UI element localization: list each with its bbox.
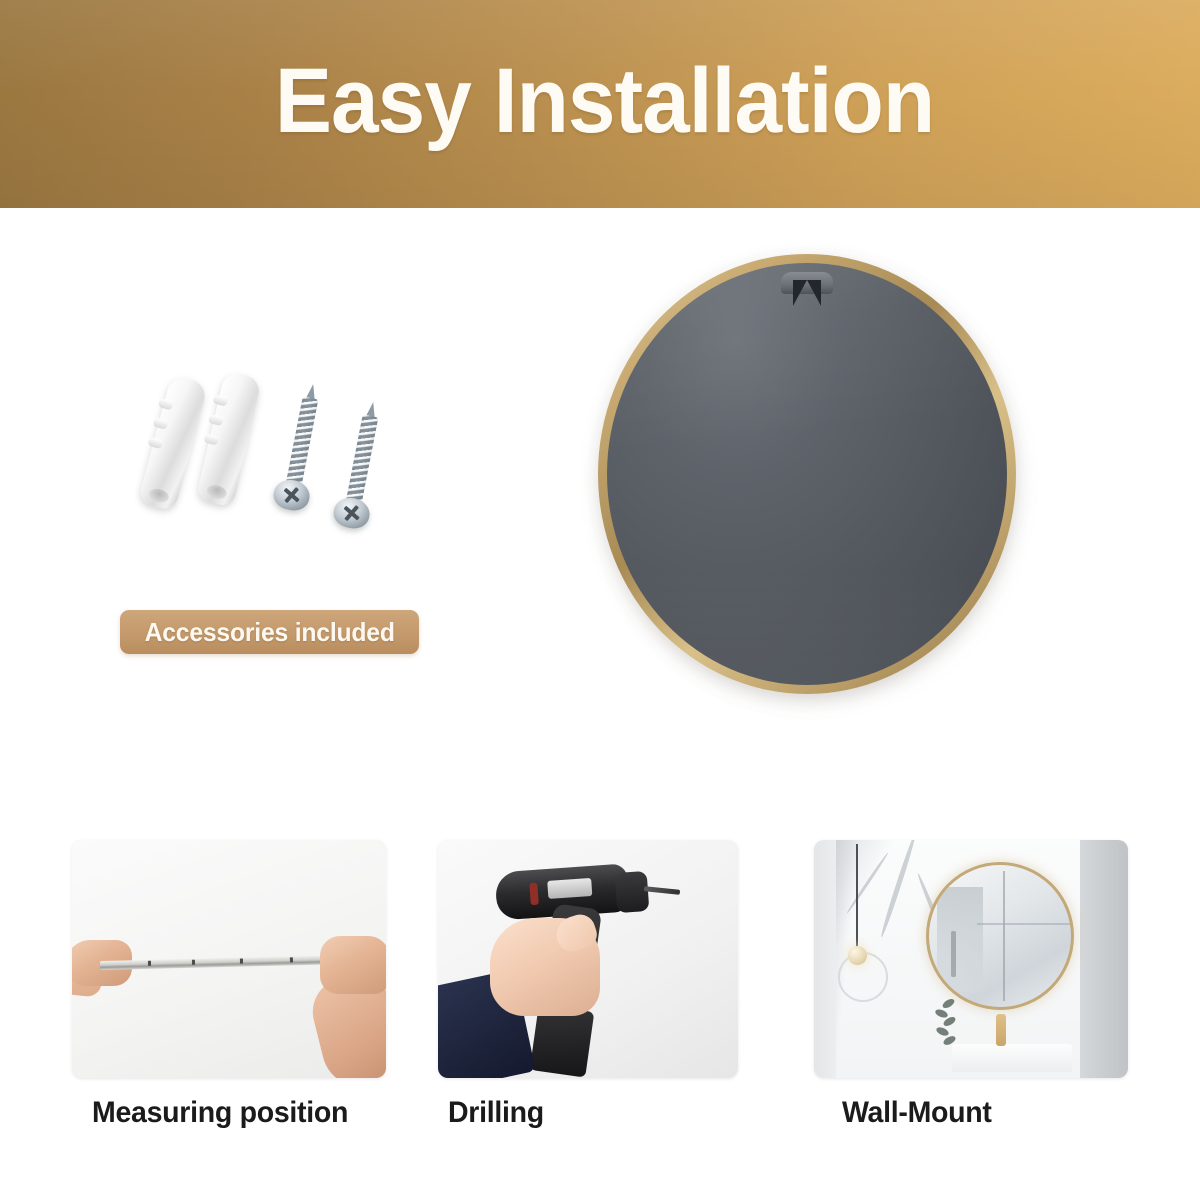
screw-icon [278, 382, 324, 512]
bracket-hook-right [807, 280, 821, 306]
bathroom-scene [814, 840, 1128, 1078]
mounted-round-mirror [926, 862, 1074, 1010]
step-label-wall-mount: Wall-Mount [842, 1096, 1150, 1130]
screw-head [331, 495, 372, 531]
drill-vent [547, 878, 592, 899]
mirror-reflection-sill [977, 923, 1074, 925]
mirror-reflection-wall [937, 887, 983, 991]
screw-icon [338, 400, 384, 530]
mirror-hanging-bracket-icon [781, 272, 833, 312]
step-wall-mount: Wall-Mount [814, 840, 1166, 1130]
leaf [935, 1026, 950, 1038]
leaf [934, 1008, 949, 1019]
bracket-hook-left [793, 280, 807, 306]
left-wall-panel [814, 840, 838, 1078]
mirror-gold-frame [598, 254, 1016, 694]
tape-mark [290, 957, 293, 962]
marble-vein [846, 851, 890, 914]
leaf [941, 997, 956, 1010]
accessories-included-badge: Accessories included [120, 610, 419, 654]
installation-hardware-group [140, 373, 440, 573]
sink-counter [952, 1044, 1072, 1072]
glass-lower-highlight [607, 567, 1007, 685]
anchor-rib [158, 398, 174, 410]
pendant-light-cord [856, 844, 858, 950]
pendant-light-bulb [848, 946, 867, 965]
anchor-rib [147, 437, 163, 449]
step-drilling: Drilling [438, 840, 790, 1130]
step-photo-drilling [438, 840, 738, 1078]
step-measuring-position: Measuring position [72, 840, 424, 1130]
screw-head [271, 477, 312, 513]
mirror-reflection-shower [951, 931, 956, 977]
anchor-rib [208, 414, 224, 426]
page-title: Easy Installation [275, 55, 934, 147]
accessories-included-label: Accessories included [145, 617, 395, 648]
step-photo-wall-mount [814, 840, 1128, 1078]
tape-mark [192, 960, 195, 965]
anchor-rib [204, 434, 220, 446]
wall-anchor-icon [196, 370, 263, 507]
drill-red-accent [529, 883, 539, 906]
right-hand [320, 936, 386, 994]
tape-mark [148, 961, 151, 966]
step-label-drilling: Drilling [448, 1096, 773, 1130]
installation-steps: Measuring position Drilling [0, 820, 1200, 1200]
step-photo-measuring [72, 840, 386, 1078]
step-label-measuring: Measuring position [92, 1096, 407, 1130]
anchor-rib [153, 417, 169, 429]
hero-section: Accessories included [0, 208, 1200, 820]
gold-faucet [996, 1014, 1006, 1046]
mirror-reflection-window-frame [1003, 871, 1005, 1001]
drill-chuck [615, 871, 650, 913]
mirror-glass-surface [607, 263, 1007, 685]
tape-mark [240, 959, 243, 964]
anchor-rib [213, 395, 229, 407]
right-wall-panel [1080, 840, 1128, 1078]
header-banner: Easy Installation [0, 0, 1200, 208]
round-mirror-product-image [598, 254, 1022, 706]
